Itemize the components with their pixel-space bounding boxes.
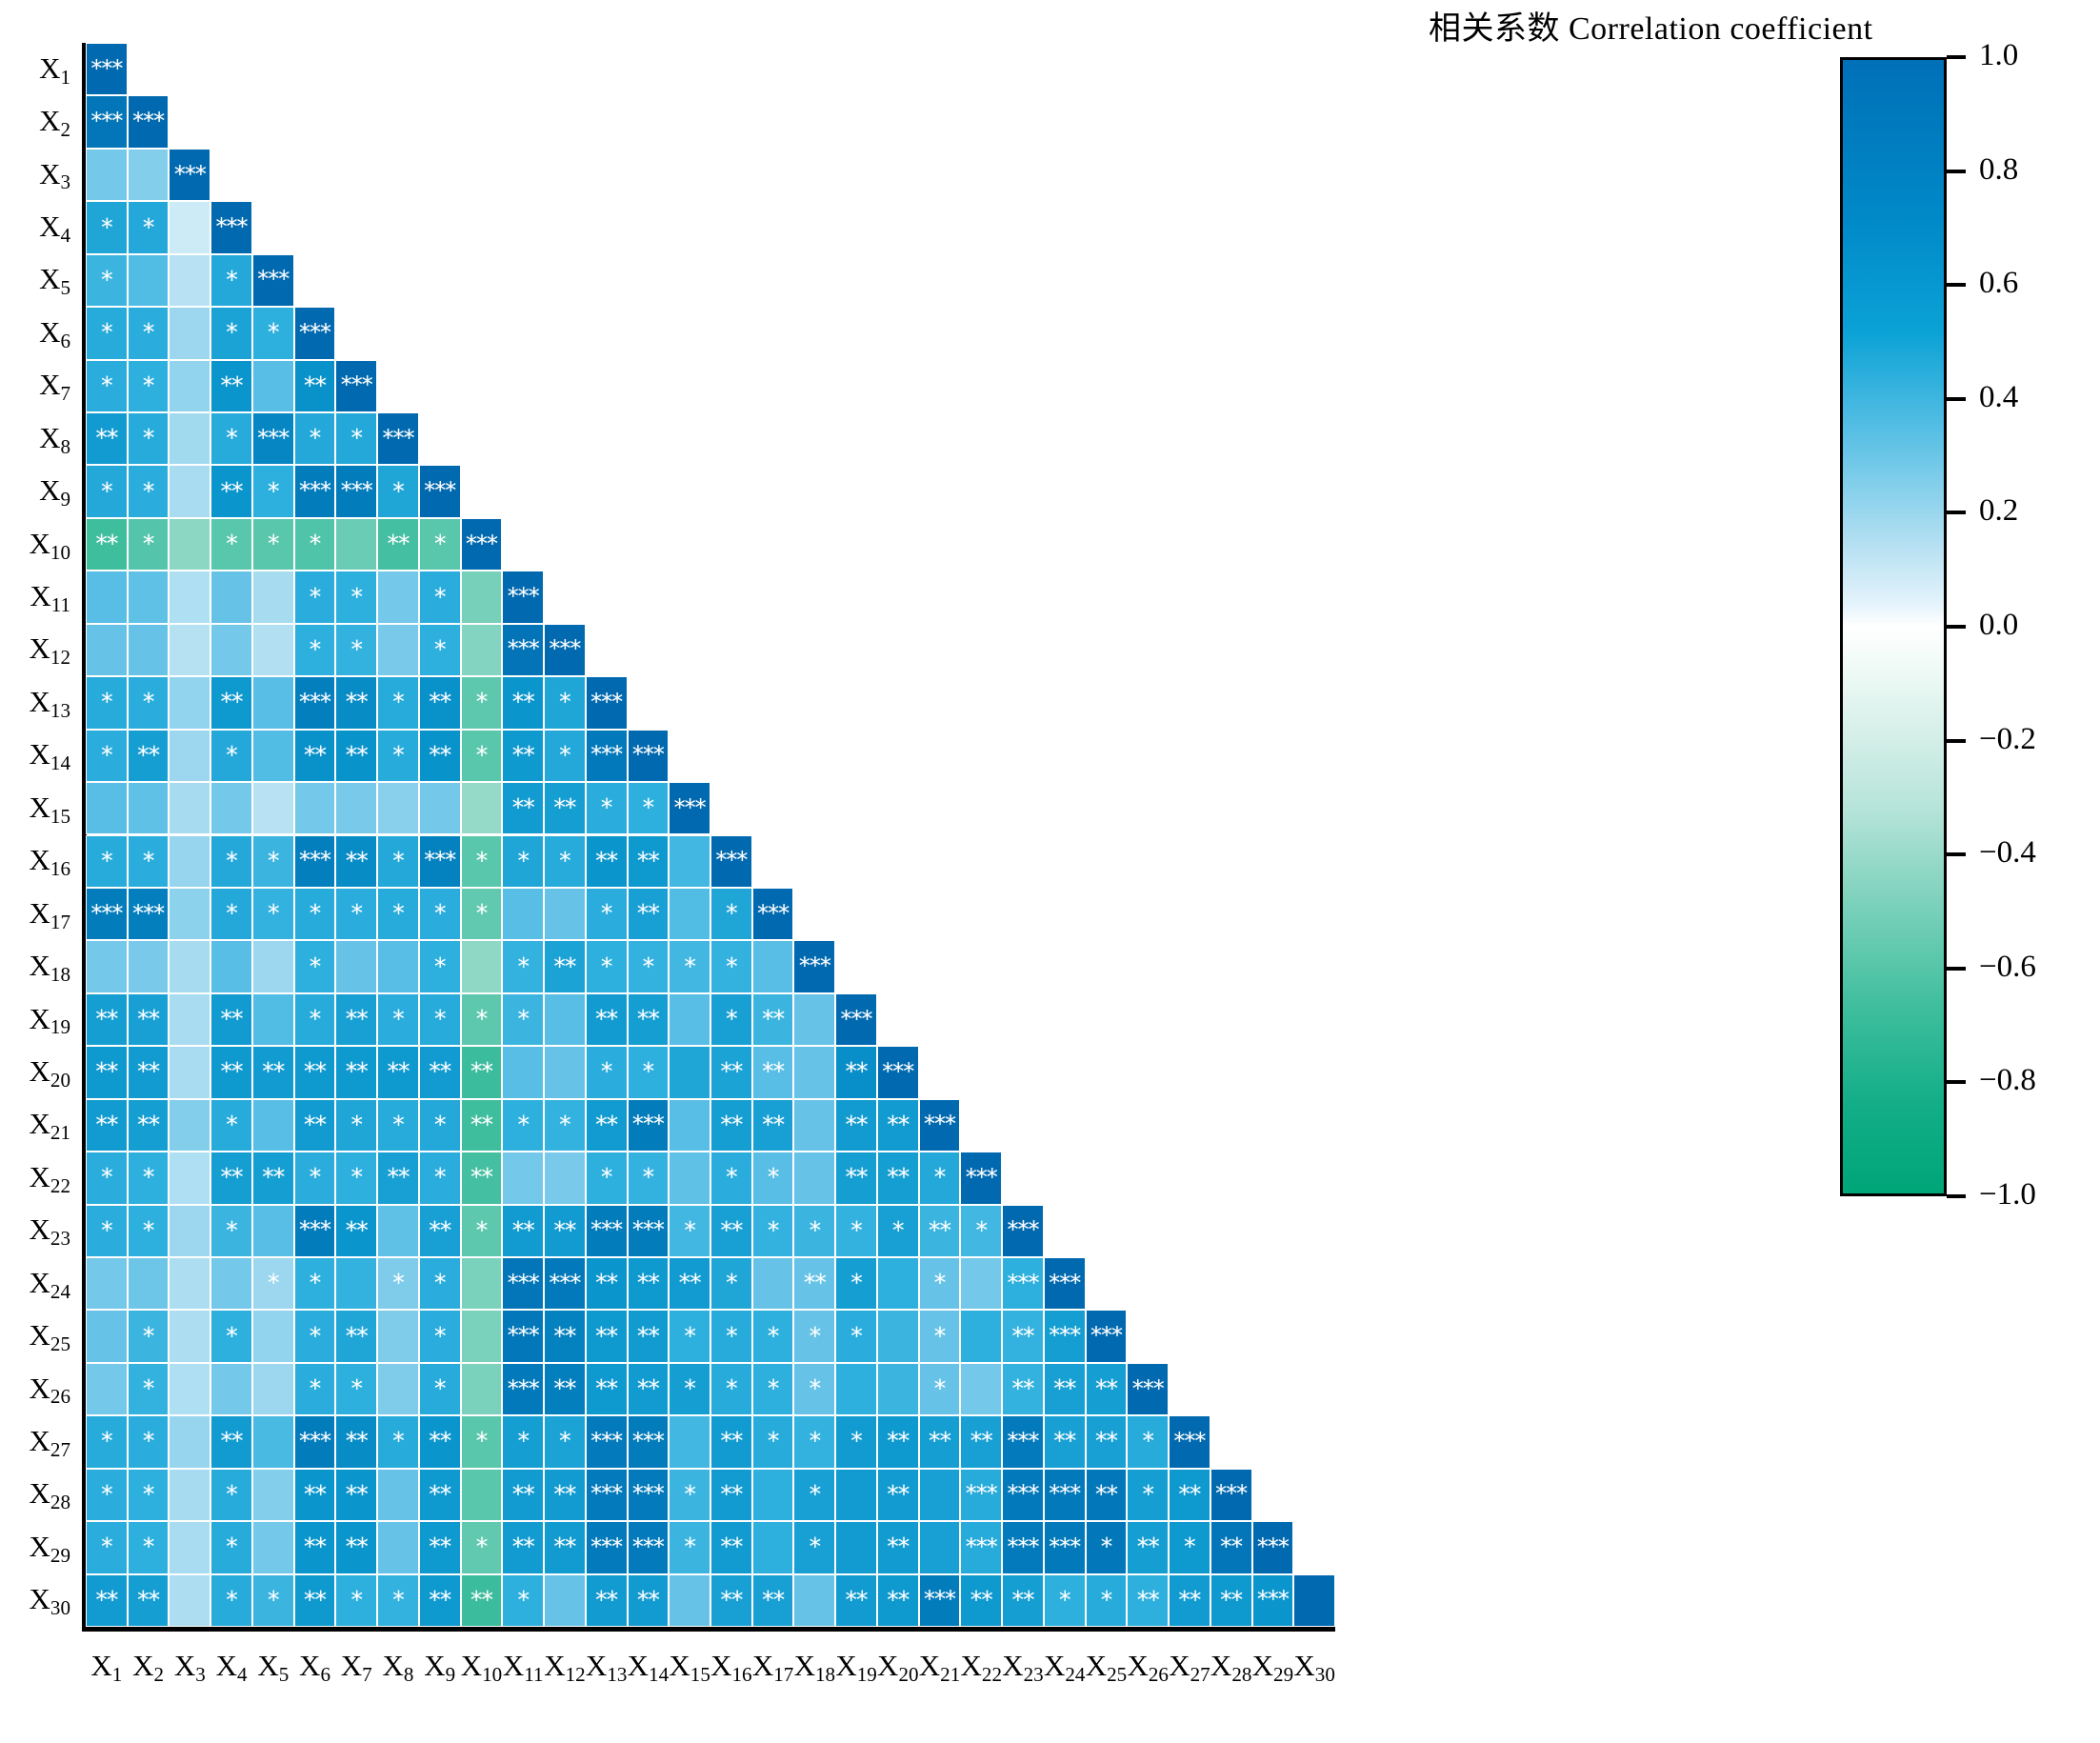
significance-marker: * — [517, 1588, 529, 1612]
heatmap-cell — [252, 571, 294, 623]
significance-marker: ** — [804, 1271, 826, 1294]
significance-marker: ** — [720, 1112, 742, 1136]
significance-marker: * — [143, 215, 154, 239]
significance-marker: ** — [1220, 1534, 1242, 1558]
heatmap-cell: * — [710, 1310, 752, 1362]
significance-marker: *** — [799, 954, 830, 977]
heatmap-cell — [544, 1046, 586, 1098]
significance-marker: * — [226, 320, 237, 344]
heatmap-cell: ** — [586, 1099, 628, 1152]
heatmap-cell: * — [461, 993, 503, 1046]
significance-marker: * — [101, 479, 112, 503]
significance-marker: ** — [262, 1165, 284, 1189]
heatmap-cell: * — [86, 360, 128, 412]
heatmap-cell: * — [86, 676, 128, 729]
significance-marker: *** — [715, 849, 747, 871]
heatmap-cell: * — [419, 624, 461, 676]
heatmap-cell — [377, 1469, 419, 1521]
significance-marker: * — [226, 1588, 237, 1612]
heatmap-cell: *** — [960, 1152, 1002, 1204]
heatmap-cell: ** — [1169, 1574, 1210, 1627]
significance-marker: ** — [929, 1218, 950, 1242]
significance-marker: ** — [512, 1534, 534, 1558]
heatmap-cell: * — [669, 1363, 710, 1415]
heatmap-cell: *** — [877, 1046, 919, 1098]
significance-marker: *** — [466, 532, 497, 555]
heatmap-cell: ** — [628, 1574, 670, 1627]
heatmap-cell: ** — [835, 1046, 877, 1098]
significance-marker: *** — [299, 1218, 330, 1241]
significance-marker: * — [143, 426, 154, 450]
heatmap-cell: ** — [86, 518, 128, 571]
significance-marker: ** — [137, 1007, 159, 1031]
significance-marker: * — [101, 743, 112, 767]
heatmap-cell — [960, 1310, 1002, 1362]
significance-marker: ** — [1178, 1588, 1200, 1612]
heatmap-cell: * — [210, 254, 252, 307]
heatmap-cell: * — [335, 1099, 377, 1152]
significance-marker: *** — [632, 1218, 664, 1241]
heatmap-cell — [377, 571, 419, 623]
significance-marker: ** — [970, 1429, 992, 1452]
heatmap-cell: ** — [128, 1099, 170, 1152]
significance-marker: * — [226, 1324, 237, 1348]
heatmap-cell — [252, 1521, 294, 1573]
heatmap-cell: ** — [919, 1205, 961, 1257]
significance-marker: * — [850, 1324, 862, 1348]
significance-marker: ** — [762, 1059, 784, 1083]
significance-marker: ** — [553, 1534, 575, 1558]
heatmap-cell: * — [86, 1521, 128, 1573]
significance-marker: * — [1142, 1482, 1153, 1506]
heatmap-cell: ** — [335, 1415, 377, 1468]
heatmap-cell: ** — [252, 1152, 294, 1204]
heatmap-cell — [86, 782, 128, 834]
significance-marker: *** — [590, 1535, 622, 1558]
significance-marker: *** — [132, 110, 164, 132]
heatmap-cell: * — [86, 1469, 128, 1521]
heatmap-cell — [169, 1363, 210, 1415]
heatmap-cell: * — [793, 1415, 835, 1468]
heatmap-cell: * — [377, 835, 419, 888]
significance-marker: * — [392, 901, 404, 925]
significance-marker: ** — [846, 1165, 868, 1189]
heatmap-cell: * — [128, 1152, 170, 1204]
significance-marker: * — [810, 1534, 821, 1558]
significance-marker: ** — [304, 1059, 326, 1083]
significance-marker: ** — [1053, 1376, 1075, 1400]
heatmap-cell: *** — [252, 412, 294, 465]
heatmap-cell: * — [586, 940, 628, 992]
y-axis-tick-label: X20 — [0, 1056, 78, 1086]
heatmap-cell: * — [1127, 1469, 1169, 1521]
heatmap-cell: *** — [419, 835, 461, 888]
heatmap-cell: ** — [752, 993, 794, 1046]
heatmap-cell — [128, 940, 170, 992]
heatmap-cell: * — [919, 1257, 961, 1310]
significance-marker: *** — [341, 373, 372, 396]
heatmap-cell: *** — [586, 1469, 628, 1521]
heatmap-cell: * — [377, 676, 419, 729]
heatmap-cell: * — [128, 676, 170, 729]
significance-marker: ** — [887, 1429, 909, 1452]
significance-marker: *** — [1049, 1272, 1080, 1294]
significance-marker: * — [517, 1007, 529, 1031]
significance-marker: * — [268, 531, 279, 555]
significance-marker: * — [268, 901, 279, 925]
heatmap-cell: *** — [1044, 1521, 1086, 1573]
heatmap-cell — [793, 1152, 835, 1204]
heatmap-cell: ** — [128, 1046, 170, 1098]
heatmap-cell: * — [710, 1257, 752, 1310]
significance-marker: * — [392, 1429, 404, 1452]
heatmap-cell: ** — [752, 1574, 794, 1627]
y-axis-tick-label: X29 — [0, 1532, 78, 1561]
colorbar-tick — [1947, 55, 1966, 59]
significance-marker: * — [1059, 1588, 1070, 1612]
significance-marker: * — [143, 320, 154, 344]
significance-marker: ** — [553, 1482, 575, 1506]
significance-marker: * — [517, 849, 529, 872]
heatmap-cell: ** — [628, 1257, 670, 1310]
heatmap-cell: ** — [544, 940, 586, 992]
significance-marker: ** — [221, 1007, 243, 1031]
heatmap-cell: * — [419, 571, 461, 623]
y-axis-tick-label: X22 — [0, 1162, 78, 1192]
significance-marker: *** — [216, 215, 248, 238]
heatmap-cell — [128, 782, 170, 834]
heatmap-cell — [335, 782, 377, 834]
significance-marker: * — [310, 1007, 321, 1031]
significance-marker: ** — [595, 1112, 617, 1136]
significance-marker: * — [476, 1007, 488, 1031]
significance-marker: * — [976, 1218, 988, 1242]
heatmap-cell — [461, 1310, 503, 1362]
significance-marker: * — [143, 1165, 154, 1189]
heatmap-cell — [793, 1046, 835, 1098]
heatmap-cell: * — [544, 676, 586, 729]
significance-marker: ** — [637, 1007, 659, 1031]
heatmap-cell — [835, 1363, 877, 1415]
significance-marker: * — [310, 1324, 321, 1348]
significance-marker: ** — [1053, 1429, 1075, 1452]
colorbar-tick-label: 0.2 — [1979, 495, 2018, 527]
significance-marker: ** — [221, 479, 243, 503]
heatmap-cell: * — [544, 730, 586, 782]
significance-marker: ** — [970, 1588, 992, 1612]
heatmap-cell — [210, 1257, 252, 1310]
heatmap-cell: * — [335, 571, 377, 623]
significance-marker: ** — [846, 1588, 868, 1612]
heatmap-cell: ** — [628, 993, 670, 1046]
heatmap-cell: * — [377, 1415, 419, 1468]
heatmap-cell: ** — [544, 1521, 586, 1573]
heatmap-cell: *** — [169, 149, 210, 201]
significance-marker: ** — [512, 743, 534, 767]
heatmap-cell: ** — [628, 1310, 670, 1362]
heatmap-cell: * — [377, 993, 419, 1046]
heatmap-cell: *** — [86, 43, 128, 95]
heatmap-cell: * — [419, 888, 461, 940]
significance-marker: * — [434, 1271, 446, 1294]
heatmap-cell: ** — [294, 730, 336, 782]
heatmap-cell: ** — [544, 1363, 586, 1415]
significance-marker: *** — [424, 849, 455, 871]
heatmap-cell: * — [544, 1099, 586, 1152]
y-axis-tick-label: X27 — [0, 1426, 78, 1455]
heatmap-cell: ** — [544, 1310, 586, 1362]
significance-marker: * — [559, 1429, 570, 1452]
heatmap-cell: * — [461, 676, 503, 729]
heatmap-cell: ** — [877, 1415, 919, 1468]
significance-marker: ** — [429, 1059, 450, 1083]
heatmap-cell: *** — [793, 940, 835, 992]
y-axis-tick-label: X19 — [0, 1004, 78, 1033]
heatmap-cell — [669, 888, 710, 940]
heatmap-cell — [1293, 1574, 1335, 1627]
heatmap-cell: ** — [252, 1046, 294, 1098]
heatmap-cell: ** — [86, 993, 128, 1046]
heatmap-cell: * — [544, 1415, 586, 1468]
significance-marker: ** — [1137, 1534, 1159, 1558]
heatmap-cell — [169, 993, 210, 1046]
significance-marker: ** — [346, 1218, 368, 1242]
significance-marker: ** — [512, 795, 534, 819]
heatmap-cell: * — [86, 730, 128, 782]
heatmap-cell: * — [419, 1310, 461, 1362]
significance-marker: ** — [1137, 1588, 1159, 1612]
significance-marker: ** — [429, 1588, 450, 1612]
significance-marker: *** — [1049, 1482, 1080, 1505]
heatmap-cell: * — [252, 1257, 294, 1310]
significance-marker: ** — [95, 1059, 117, 1083]
heatmap-cell: *** — [919, 1574, 961, 1627]
heatmap-cell: * — [752, 1205, 794, 1257]
heatmap-cell — [461, 1363, 503, 1415]
significance-marker: ** — [346, 1534, 368, 1558]
heatmap-cell: * — [669, 940, 710, 992]
heatmap-cell: ** — [1002, 1574, 1044, 1627]
heatmap-cell: ** — [335, 993, 377, 1046]
significance-marker: ** — [429, 1429, 450, 1452]
significance-marker: ** — [346, 849, 368, 872]
heatmap-cell — [544, 1152, 586, 1204]
heatmap-cell: * — [502, 835, 544, 888]
heatmap-cell — [169, 676, 210, 729]
heatmap-cell: ** — [586, 1257, 628, 1310]
heatmap-cell: * — [86, 254, 128, 307]
heatmap-cell: * — [210, 730, 252, 782]
heatmap-cell: * — [210, 835, 252, 888]
significance-marker: * — [310, 1271, 321, 1294]
significance-marker: ** — [846, 1059, 868, 1083]
significance-marker: ** — [95, 1588, 117, 1612]
heatmap-cell: * — [877, 1205, 919, 1257]
heatmap-cell: * — [835, 1415, 877, 1468]
significance-marker: *** — [1215, 1482, 1247, 1505]
significance-marker: ** — [595, 1007, 617, 1031]
significance-marker: * — [226, 1534, 237, 1558]
significance-marker: * — [101, 268, 112, 291]
significance-marker: ** — [262, 1059, 284, 1083]
heatmap-cell: *** — [1002, 1205, 1044, 1257]
significance-marker: ** — [429, 1218, 450, 1242]
heatmap-cell: ** — [710, 1521, 752, 1573]
heatmap-cell: *** — [835, 993, 877, 1046]
significance-marker: ** — [304, 373, 326, 397]
heatmap-cell: ** — [710, 1469, 752, 1521]
significance-marker: * — [434, 954, 446, 978]
significance-marker: * — [726, 1165, 737, 1189]
significance-marker: ** — [929, 1429, 950, 1452]
y-axis-tick-label: X16 — [0, 845, 78, 874]
heatmap-cell: * — [335, 624, 377, 676]
heatmap-cell: * — [919, 1363, 961, 1415]
heatmap-cell: * — [710, 993, 752, 1046]
heatmap-cell — [169, 1574, 210, 1627]
significance-marker: ** — [95, 1007, 117, 1031]
heatmap-cell — [919, 1469, 961, 1521]
significance-marker: *** — [508, 1272, 539, 1294]
significance-marker: ** — [137, 743, 159, 767]
significance-marker: * — [226, 426, 237, 450]
significance-marker: ** — [221, 1429, 243, 1452]
significance-marker: * — [1101, 1534, 1112, 1558]
significance-marker: ** — [1011, 1376, 1033, 1400]
heatmap-cell: * — [86, 465, 128, 517]
heatmap-cell: *** — [1044, 1257, 1086, 1310]
heatmap-cell: * — [710, 1363, 752, 1415]
colorbar-tick-label: 1.0 — [1979, 40, 2018, 71]
heatmap-cell: ** — [210, 1152, 252, 1204]
heatmap-cell — [419, 782, 461, 834]
colorbar-gradient — [1840, 57, 1947, 1196]
significance-marker: ** — [95, 531, 117, 555]
heatmap-cell: * — [377, 1257, 419, 1310]
y-axis-tick-label: X11 — [0, 581, 78, 611]
significance-marker: * — [392, 1112, 404, 1136]
significance-marker: ** — [720, 1059, 742, 1083]
heatmap-cell: ** — [502, 676, 544, 729]
heatmap-cell: ** — [210, 1046, 252, 1098]
heatmap-cell: * — [461, 1205, 503, 1257]
heatmap-cell: *** — [1086, 1310, 1128, 1362]
significance-marker: * — [810, 1376, 821, 1400]
heatmap-cell — [169, 1205, 210, 1257]
significance-marker: *** — [549, 637, 580, 660]
heatmap-cell: *** — [461, 518, 503, 571]
heatmap-cell — [877, 1257, 919, 1310]
heatmap-cell: * — [669, 1469, 710, 1521]
heatmap-cell — [252, 1415, 294, 1468]
heatmap-cell: ** — [210, 993, 252, 1046]
significance-marker: ** — [720, 1482, 742, 1506]
heatmap-cell: * — [377, 730, 419, 782]
heatmap-cell: * — [544, 835, 586, 888]
heatmap-cell: ** — [502, 1521, 544, 1573]
heatmap-cell: * — [502, 940, 544, 992]
heatmap-cell: ** — [377, 518, 419, 571]
heatmap-cell: * — [669, 1310, 710, 1362]
heatmap-cell: ** — [335, 1205, 377, 1257]
significance-marker: ** — [512, 690, 534, 713]
y-axis-tick-label: X13 — [0, 687, 78, 716]
significance-marker: * — [892, 1218, 904, 1242]
significance-marker: * — [684, 1218, 695, 1242]
y-axis-tick-label: X15 — [0, 792, 78, 822]
significance-marker: *** — [590, 1430, 622, 1452]
significance-marker: * — [434, 901, 446, 925]
heatmap-cell: *** — [544, 624, 586, 676]
heatmap-cell: ** — [128, 730, 170, 782]
significance-marker: * — [517, 1429, 529, 1452]
y-axis-tick-label: X2 — [0, 106, 78, 135]
heatmap-cell: ** — [1044, 1415, 1086, 1468]
significance-marker: * — [101, 849, 112, 872]
heatmap-cell: ** — [86, 412, 128, 465]
heatmap-cell: *** — [710, 835, 752, 888]
significance-marker: * — [768, 1218, 779, 1242]
heatmap-cell: ** — [86, 1099, 128, 1152]
colorbar-tick-label: 0.6 — [1979, 268, 2018, 299]
heatmap-cell — [544, 1574, 586, 1627]
significance-marker: * — [101, 1429, 112, 1452]
heatmap-cell: * — [128, 1415, 170, 1468]
heatmap-cell — [169, 1152, 210, 1204]
significance-marker: * — [392, 690, 404, 713]
significance-marker: * — [351, 1165, 363, 1189]
colorbar-tick-label: −1.0 — [1979, 1179, 2036, 1211]
heatmap-cell: * — [252, 1574, 294, 1627]
heatmap-cell: * — [86, 307, 128, 359]
heatmap-cell: * — [294, 993, 336, 1046]
heatmap-cell — [86, 571, 128, 623]
significance-marker: ** — [1095, 1376, 1117, 1400]
heatmap-cell: * — [210, 412, 252, 465]
significance-marker: *** — [299, 321, 330, 344]
heatmap-cell: ** — [586, 835, 628, 888]
significance-marker: ** — [887, 1534, 909, 1558]
heatmap-cell: * — [419, 993, 461, 1046]
heatmap-cell: *** — [294, 307, 336, 359]
y-axis-tick-label: X14 — [0, 739, 78, 769]
heatmap-cell — [377, 940, 419, 992]
heatmap-cell: * — [252, 835, 294, 888]
heatmap-cell — [877, 1310, 919, 1362]
significance-marker: * — [517, 954, 529, 978]
heatmap-cell — [461, 624, 503, 676]
significance-marker: ** — [304, 1112, 326, 1136]
heatmap-cell: ** — [502, 1205, 544, 1257]
significance-marker: * — [310, 585, 321, 609]
heatmap-cell — [210, 1363, 252, 1415]
significance-marker: * — [101, 1218, 112, 1242]
heatmap-cell: * — [210, 307, 252, 359]
significance-marker: ** — [720, 1588, 742, 1612]
heatmap-cell: * — [294, 1257, 336, 1310]
heatmap-cell — [169, 254, 210, 307]
heatmap-cell: * — [752, 1415, 794, 1468]
significance-marker: *** — [757, 902, 789, 925]
y-axis-tick-label: X28 — [0, 1478, 78, 1508]
significance-marker: * — [143, 1482, 154, 1506]
significance-marker: ** — [887, 1588, 909, 1612]
heatmap-cell: * — [586, 1152, 628, 1204]
significance-marker: * — [143, 690, 154, 713]
heatmap-cell: * — [793, 1521, 835, 1573]
heatmap-cell — [461, 782, 503, 834]
significance-marker: * — [268, 1271, 279, 1294]
